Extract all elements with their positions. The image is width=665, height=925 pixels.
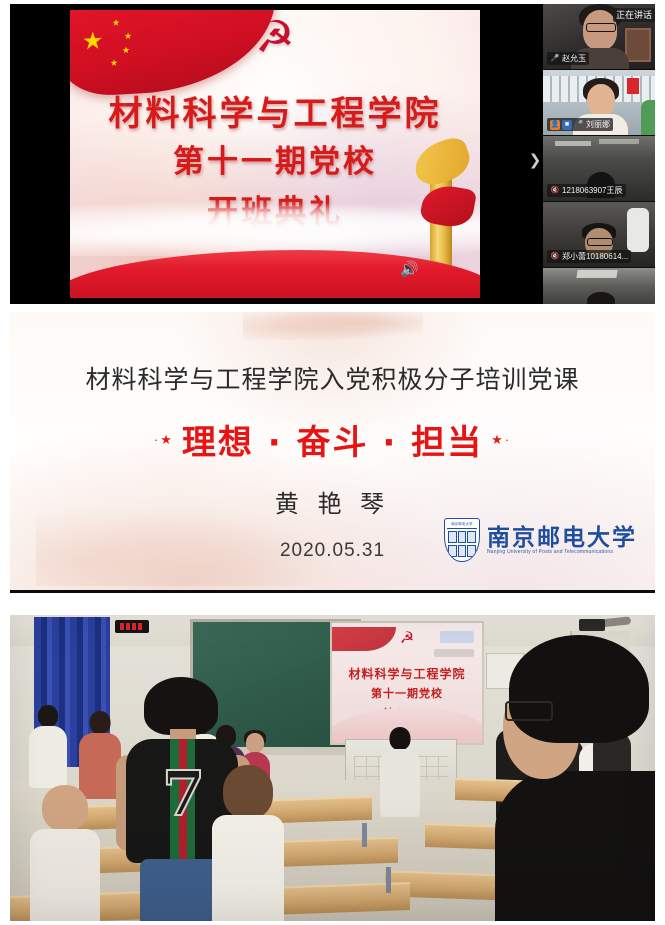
university-name-cn: 南京邮电大学	[487, 526, 637, 549]
participant-tile[interactable]: 正在讲话 🎤 赵允玉	[543, 4, 655, 69]
participant-name: 刘丽娜	[586, 118, 610, 131]
crest-cell	[467, 531, 476, 543]
background-picture-frame	[625, 28, 651, 62]
classroom-photo: ☭ 材料科学与工程学院 第十一期党校 结业典礼	[10, 615, 655, 921]
participant-head	[587, 292, 615, 304]
party-emblem-icon: ☭	[255, 16, 294, 60]
background-statue	[627, 208, 649, 252]
participant-tile[interactable]: 👤 ■ 🎤 刘丽娜	[543, 70, 655, 135]
lecture-title-slide: 材料科学与工程学院入党积极分子培训党课 ·★ 理想 · 奋斗 · 担当 ★· 黄…	[10, 312, 655, 593]
flag-star-large: ★	[82, 29, 104, 54]
glasses-icon	[587, 238, 613, 246]
participant-name: 1218063907王辰	[562, 184, 623, 197]
ceiling-light	[555, 141, 591, 146]
ppt-title-line-1: 材料科学与工程学院	[70, 86, 480, 135]
participant-name: 郑小蕾10180614...	[562, 250, 628, 263]
university-logo-text: 南京邮电大学 Nanjing University of Posts and T…	[487, 526, 637, 555]
participant-namebar: 🎤 赵允玉	[547, 52, 589, 65]
mic-muted-icon: 🔇	[550, 252, 560, 262]
participant-tile[interactable]: 🔇 1218063907王辰	[543, 136, 655, 201]
flag-star-small: ★	[112, 18, 120, 27]
cloud-decoration	[70, 200, 480, 256]
mic-icon: 🎤	[550, 54, 560, 64]
host-icon: 👤	[550, 120, 560, 130]
slide-theme-row: ·★ 理想 · 奋斗 · 担当 ★·	[10, 415, 655, 464]
ink-wash-decoration-top	[243, 312, 423, 340]
flag-star-small: ★	[124, 32, 132, 41]
slide-course-title: 材料科学与工程学院入党积极分子培训党课	[10, 360, 655, 396]
university-crest-icon: 南京邮电大学	[444, 518, 480, 562]
ceiling-panel	[576, 270, 617, 278]
background-red-box	[627, 78, 639, 94]
mic-muted-icon: 🔇	[550, 186, 560, 196]
slide-speaker-name: 黄 艳 琴	[10, 484, 655, 519]
ceiling-light	[599, 139, 639, 144]
crest-cell	[467, 545, 476, 557]
left-stars-decoration: ·★	[154, 432, 174, 448]
crest-grid	[448, 531, 476, 557]
participant-video	[543, 268, 655, 304]
flag-star-small: ★	[122, 46, 130, 55]
participant-namebar: 🔇 郑小蕾10180614...	[547, 250, 631, 263]
mic-icon: 🎤	[574, 120, 584, 130]
online-meeting-screenshot: ★ ★ ★ ★ ★ ☭ 材料科学与工程学院 第十一期党校 开班典礼 🔊 ❯	[10, 4, 655, 304]
crest-cell	[458, 545, 467, 557]
shared-ppt-slide: ★ ★ ★ ★ ★ ☭ 材料科学与工程学院 第十一期党校 开班典礼 🔊	[70, 10, 480, 298]
participant-tile[interactable]: 🔇 郑小蕾10180614...	[543, 202, 655, 267]
chevron-right-icon[interactable]: ❯	[528, 150, 542, 172]
slide-theme: 理想 · 奋斗 · 担当	[182, 415, 483, 464]
participant-name: 赵允玉	[562, 52, 586, 65]
crest-cell	[448, 545, 457, 557]
crest-cell	[458, 531, 467, 543]
speaker-icon[interactable]: 🔊	[400, 262, 419, 277]
classroom-scene: ☭ 材料科学与工程学院 第十一期党校 结业典礼	[10, 615, 655, 921]
background-green-object	[641, 100, 655, 135]
crest-divider	[447, 528, 477, 529]
university-name-en: Nanjing University of Posts and Telecomm…	[487, 550, 637, 555]
photo-vignette	[10, 615, 655, 921]
right-stars-decoration: ★·	[491, 432, 511, 448]
flag-star-small: ★	[110, 59, 118, 68]
crest-cell	[448, 531, 457, 543]
china-flag-icon: ★ ★ ★ ★ ★	[70, 10, 275, 98]
participant-tile[interactable]	[543, 268, 655, 304]
crest-top-text: 南京邮电大学	[448, 521, 476, 527]
photo-collage-page: ★ ★ ★ ★ ★ ☭ 材料科学与工程学院 第十一期党校 开班典礼 🔊 ❯	[0, 0, 665, 925]
glasses-icon	[586, 23, 616, 32]
screen-share-icon: ■	[562, 120, 572, 130]
participant-namebar: 👤 ■ 🎤 刘丽娜	[547, 118, 613, 131]
shared-screen-stage[interactable]: ★ ★ ★ ★ ★ ☭ 材料科学与工程学院 第十一期党校 开班典礼 🔊 ❯	[10, 4, 543, 304]
university-logo: 南京邮电大学 南京邮电大学 Nanjing University of Post…	[444, 516, 637, 564]
participant-head	[587, 84, 615, 117]
participant-namebar: 🔇 1218063907王辰	[547, 184, 626, 197]
speaking-badge: 正在讲话	[613, 8, 655, 22]
participant-filmstrip[interactable]: 正在讲话 🎤 赵允玉 👤 ■ 🎤	[543, 4, 655, 304]
